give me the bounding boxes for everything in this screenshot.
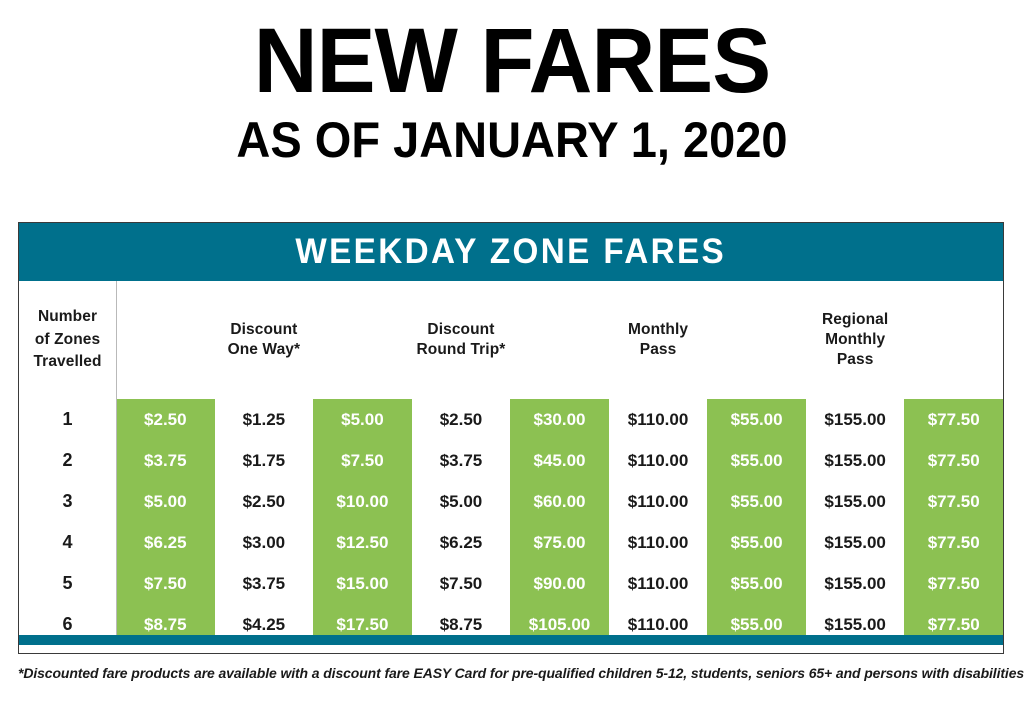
cell-round_trip: $15.00 [313, 563, 412, 604]
cell-disc_monthly: $55.00 [707, 481, 806, 522]
cell-value: 2 [63, 450, 73, 470]
cell-one_way: $2.50 [116, 399, 215, 440]
table-row: 1$2.50$1.25$5.00$2.50$30.00$110.00$55.00… [19, 399, 1003, 440]
cell-value: $155.00 [824, 574, 885, 593]
cell-value: 1 [63, 409, 73, 429]
cell-monthly_pass: $110.00 [609, 522, 708, 563]
cell-disc_round_trip: $6.25 [412, 522, 511, 563]
table-row: 2$3.75$1.75$7.50$3.75$45.00$110.00$55.00… [19, 440, 1003, 481]
cell-disc_one_way: $1.25 [215, 399, 314, 440]
fare-poster: NEW FARES AS OF JANUARY 1, 2020 WEEKDAY … [0, 0, 1024, 723]
cell-monthly_pass: $110.00 [609, 563, 708, 604]
cell-disc_monthly: $55.00 [707, 399, 806, 440]
zone-column-divider [116, 281, 117, 645]
cell-twelve_trip: $90.00 [510, 563, 609, 604]
cell-value: 3 [63, 491, 73, 511]
cell-round_trip: $12.50 [313, 522, 412, 563]
cell-value: 5 [63, 573, 73, 593]
cell-disc_round_trip: $7.50 [412, 563, 511, 604]
cell-value: $55.00 [731, 492, 783, 511]
cell-value: $110.00 [628, 410, 689, 429]
cell-value: $75.00 [534, 533, 586, 552]
table-row: 4$6.25$3.00$12.50$6.25$75.00$110.00$55.0… [19, 522, 1003, 563]
cell-disc_round_trip: $3.75 [412, 440, 511, 481]
cell-regional_monthly: $155.00 [806, 563, 905, 604]
column-header-label: 12 Trip [510, 330, 609, 350]
cell-monthly_pass: $110.00 [609, 399, 708, 440]
cell-value: $155.00 [824, 451, 885, 470]
column-header-label: DiscountRound Trip* [412, 320, 511, 360]
cell-zones: 5 [19, 563, 116, 604]
cell-value: $3.00 [243, 533, 286, 552]
column-header-disc_monthly: DiscountMonthlyPass* [707, 281, 806, 399]
cell-zones: 3 [19, 481, 116, 522]
cell-value: $155.00 [824, 410, 885, 429]
column-header-label: RegionalMonthlyPass [806, 310, 905, 369]
cell-value: $60.00 [534, 492, 586, 511]
cell-value: $7.50 [440, 574, 483, 593]
cell-value: $3.75 [144, 451, 187, 470]
cell-twelve_trip: $75.00 [510, 522, 609, 563]
cell-value: $110.00 [628, 451, 689, 470]
cell-value: $155.00 [824, 533, 885, 552]
cell-value: $17.50 [336, 615, 388, 634]
cell-disc_round_trip: $2.50 [412, 399, 511, 440]
cell-value: $155.00 [824, 492, 885, 511]
fare-table: Numberof ZonesTravelledOneWayDiscountOne… [19, 281, 1003, 645]
cell-value: $55.00 [731, 615, 783, 634]
cell-disc_reg_monthly: $77.50 [904, 440, 1003, 481]
cell-value: $90.00 [534, 574, 586, 593]
cell-value: $6.25 [440, 533, 483, 552]
cell-monthly_pass: $110.00 [609, 481, 708, 522]
cell-value: $7.50 [144, 574, 187, 593]
cell-value: $110.00 [628, 533, 689, 552]
cell-zones: 2 [19, 440, 116, 481]
cell-zones: 1 [19, 399, 116, 440]
cell-value: $30.00 [534, 410, 586, 429]
column-header-monthly_pass: MonthlyPass [609, 281, 708, 399]
cell-regional_monthly: $155.00 [806, 481, 905, 522]
cell-value: $4.25 [243, 615, 286, 634]
cell-disc_reg_monthly: $77.50 [904, 481, 1003, 522]
fare-grid: Numberof ZonesTravelledOneWayDiscountOne… [19, 281, 1003, 645]
cell-disc_monthly: $55.00 [707, 563, 806, 604]
cell-value: $3.75 [243, 574, 286, 593]
cell-value: $10.00 [336, 492, 388, 511]
table-banner-label: WEEKDAY ZONE FARES [296, 232, 727, 272]
cell-value: 6 [63, 614, 73, 634]
cell-disc_one_way: $3.00 [215, 522, 314, 563]
table-banner: WEEKDAY ZONE FARES [19, 223, 1003, 281]
cell-value: $110.00 [628, 615, 689, 634]
cell-value: $77.50 [928, 533, 980, 552]
cell-one_way: $6.25 [116, 522, 215, 563]
column-header-label: Numberof ZonesTravelled [19, 306, 116, 373]
cell-disc_one_way: $2.50 [215, 481, 314, 522]
cell-value: $2.50 [144, 410, 187, 429]
cell-disc_reg_monthly: $77.50 [904, 522, 1003, 563]
cell-value: 4 [63, 532, 73, 552]
column-header-label: OneWay [116, 320, 215, 360]
page-title: NEW FARES [20, 18, 1003, 105]
cell-disc_one_way: $3.75 [215, 563, 314, 604]
cell-value: $15.00 [336, 574, 388, 593]
table-header-row: Numberof ZonesTravelledOneWayDiscountOne… [19, 281, 1003, 399]
fare-table-card: WEEKDAY ZONE FARES Numberof ZonesTravell… [18, 222, 1004, 654]
title-block: NEW FARES AS OF JANUARY 1, 2020 [0, 18, 1024, 165]
cell-zones: 4 [19, 522, 116, 563]
table-row: 3$5.00$2.50$10.00$5.00$60.00$110.00$55.0… [19, 481, 1003, 522]
cell-one_way: $3.75 [116, 440, 215, 481]
cell-one_way: $7.50 [116, 563, 215, 604]
cell-round_trip: $7.50 [313, 440, 412, 481]
cell-regional_monthly: $155.00 [806, 399, 905, 440]
cell-value: $55.00 [731, 410, 783, 429]
column-header-disc_one_way: DiscountOne Way* [215, 281, 314, 399]
cell-value: $5.00 [144, 492, 187, 511]
cell-disc_reg_monthly: $77.50 [904, 399, 1003, 440]
page-subtitle: AS OF JANUARY 1, 2020 [31, 115, 994, 165]
cell-value: $7.50 [341, 451, 384, 470]
cell-value: $5.00 [341, 410, 384, 429]
cell-value: $6.25 [144, 533, 187, 552]
cell-value: $45.00 [534, 451, 586, 470]
cell-round_trip: $10.00 [313, 481, 412, 522]
cell-value: $12.50 [336, 533, 388, 552]
column-header-zones: Numberof ZonesTravelled [19, 281, 116, 399]
cell-value: $55.00 [731, 533, 783, 552]
cell-disc_round_trip: $5.00 [412, 481, 511, 522]
cell-value: $2.50 [243, 492, 286, 511]
cell-value: $1.25 [243, 410, 286, 429]
cell-disc_reg_monthly: $77.50 [904, 563, 1003, 604]
column-header-regional_monthly: RegionalMonthlyPass [806, 281, 905, 399]
table-row: 5$7.50$3.75$15.00$7.50$90.00$110.00$55.0… [19, 563, 1003, 604]
cell-value: $2.50 [440, 410, 483, 429]
cell-round_trip: $5.00 [313, 399, 412, 440]
cell-value: $1.75 [243, 451, 286, 470]
cell-value: $3.75 [440, 451, 483, 470]
cell-value: $77.50 [928, 410, 980, 429]
cell-value: $110.00 [628, 492, 689, 511]
column-header-disc_round_trip: DiscountRound Trip* [412, 281, 511, 399]
cell-value: $105.00 [529, 615, 590, 634]
column-header-label: RoundTrip [313, 320, 412, 360]
cell-monthly_pass: $110.00 [609, 440, 708, 481]
cell-value: $77.50 [928, 451, 980, 470]
cell-value: $155.00 [824, 615, 885, 634]
cell-disc_monthly: $55.00 [707, 522, 806, 563]
column-header-disc_reg_monthly: DiscountRegionalMonthlyPass* [904, 281, 1003, 399]
column-header-round_trip: RoundTrip [313, 281, 412, 399]
cell-value: $77.50 [928, 615, 980, 634]
cell-twelve_trip: $30.00 [510, 399, 609, 440]
cell-disc_monthly: $55.00 [707, 440, 806, 481]
cell-value: $77.50 [928, 574, 980, 593]
cell-twelve_trip: $45.00 [510, 440, 609, 481]
cell-regional_monthly: $155.00 [806, 522, 905, 563]
cell-twelve_trip: $60.00 [510, 481, 609, 522]
column-header-label: DiscountRegionalMonthlyPass* [904, 300, 1003, 379]
fare-table-head: Numberof ZonesTravelledOneWayDiscountOne… [19, 281, 1003, 399]
cell-value: $55.00 [731, 451, 783, 470]
cell-regional_monthly: $155.00 [806, 440, 905, 481]
table-bottom-bar [19, 635, 1003, 645]
cell-value: $110.00 [628, 574, 689, 593]
cell-value: $8.75 [144, 615, 187, 634]
column-header-label: DiscountMonthlyPass* [707, 310, 806, 369]
column-header-twelve_trip: 12 Trip [510, 281, 609, 399]
cell-disc_one_way: $1.75 [215, 440, 314, 481]
cell-value: $5.00 [440, 492, 483, 511]
column-header-one_way: OneWay [116, 281, 215, 399]
fare-table-body: 1$2.50$1.25$5.00$2.50$30.00$110.00$55.00… [19, 399, 1003, 645]
cell-value: $8.75 [440, 615, 483, 634]
footnote: *Discounted fare products are available … [18, 666, 993, 682]
cell-one_way: $5.00 [116, 481, 215, 522]
column-header-label: DiscountOne Way* [215, 320, 314, 360]
cell-value: $77.50 [928, 492, 980, 511]
cell-value: $55.00 [731, 574, 783, 593]
column-header-label: MonthlyPass [609, 320, 708, 360]
